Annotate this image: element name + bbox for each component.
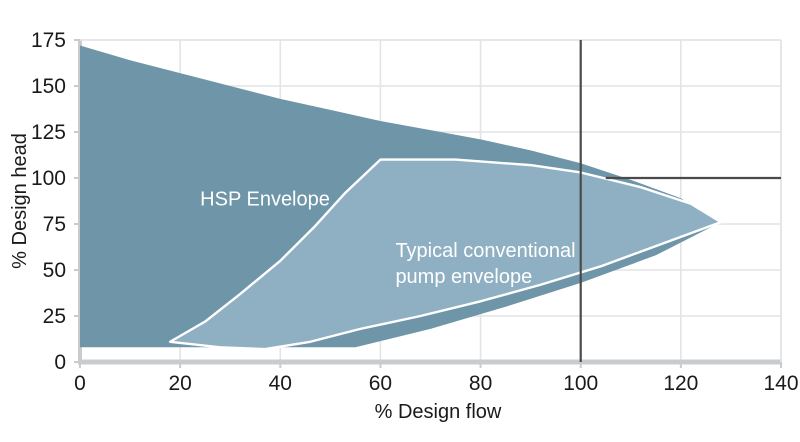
conventional-envelope-label-line2: pump envelope [395,266,532,288]
x-tick-label: 80 [469,372,492,395]
x-tick-label: 100 [563,372,598,395]
x-tick-label: 140 [763,372,798,395]
y-tick-label: 25 [43,305,66,328]
pump-envelope-chart: 0204060801001201400255075100125150175 HS… [0,0,800,442]
y-tick-label: 50 [43,259,66,282]
y-tick-label: 0 [54,351,66,374]
x-tick-label: 20 [168,372,191,395]
chart-canvas: 0204060801001201400255075100125150175 HS… [0,0,800,442]
y-tick-label: 100 [31,167,66,190]
x-tick-label: 60 [369,372,392,395]
y-tick-label: 75 [43,213,66,236]
x-axis-title: % Design flow [375,401,502,423]
y-tick-label: 125 [31,121,66,144]
x-tick-label: 40 [269,372,292,395]
x-tick-label: 0 [74,372,86,395]
conventional-envelope-label-line1: Typical conventional [395,240,575,262]
x-tick-label: 120 [663,372,698,395]
y-tick-label: 175 [31,29,66,52]
y-tick-label: 150 [31,75,66,98]
y-axis-title: % Design head [9,133,31,269]
hsp-envelope-label: HSP Envelope [200,189,330,211]
